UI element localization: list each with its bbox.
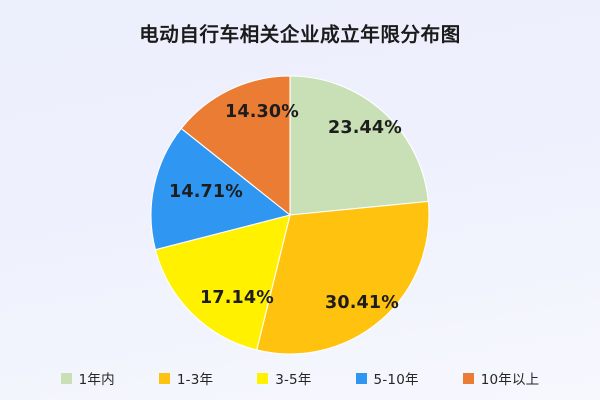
legend-swatch-icon [356,373,367,384]
legend-swatch-icon [61,373,72,384]
legend-swatch-icon [463,373,474,384]
pie-slice-value-label: 30.41% [325,293,399,313]
pie-slice-value-label: 23.44% [328,118,402,138]
legend-item[interactable]: 5-10年 [356,368,419,388]
legend-item-label: 1年内 [79,368,115,388]
legend-swatch-icon [257,373,268,384]
pie-slice-value-label: 17.14% [200,288,274,308]
pie-slice-value-label: 14.30% [225,102,299,122]
legend-item-label: 3-5年 [275,368,311,388]
pie-slice[interactable] [290,76,428,215]
chart-title: 电动自行车相关企业成立年限分布图 [0,18,600,47]
legend-swatch-icon [159,373,170,384]
legend-item-label: 5-10年 [374,368,419,388]
legend-item-label: 10年以上 [481,368,540,388]
legend-item[interactable]: 10年以上 [463,368,540,388]
chart-legend: 1年内1-3年3-5年5-10年10年以上 [0,368,600,388]
pie-slice-value-label: 14.71% [169,182,243,202]
legend-item[interactable]: 3-5年 [257,368,311,388]
legend-item-label: 1-3年 [177,368,213,388]
legend-item[interactable]: 1年内 [61,368,115,388]
legend-item[interactable]: 1-3年 [159,368,213,388]
chart-canvas: 电动自行车相关企业成立年限分布图 23.44%30.41%17.14%14.71… [0,0,600,400]
